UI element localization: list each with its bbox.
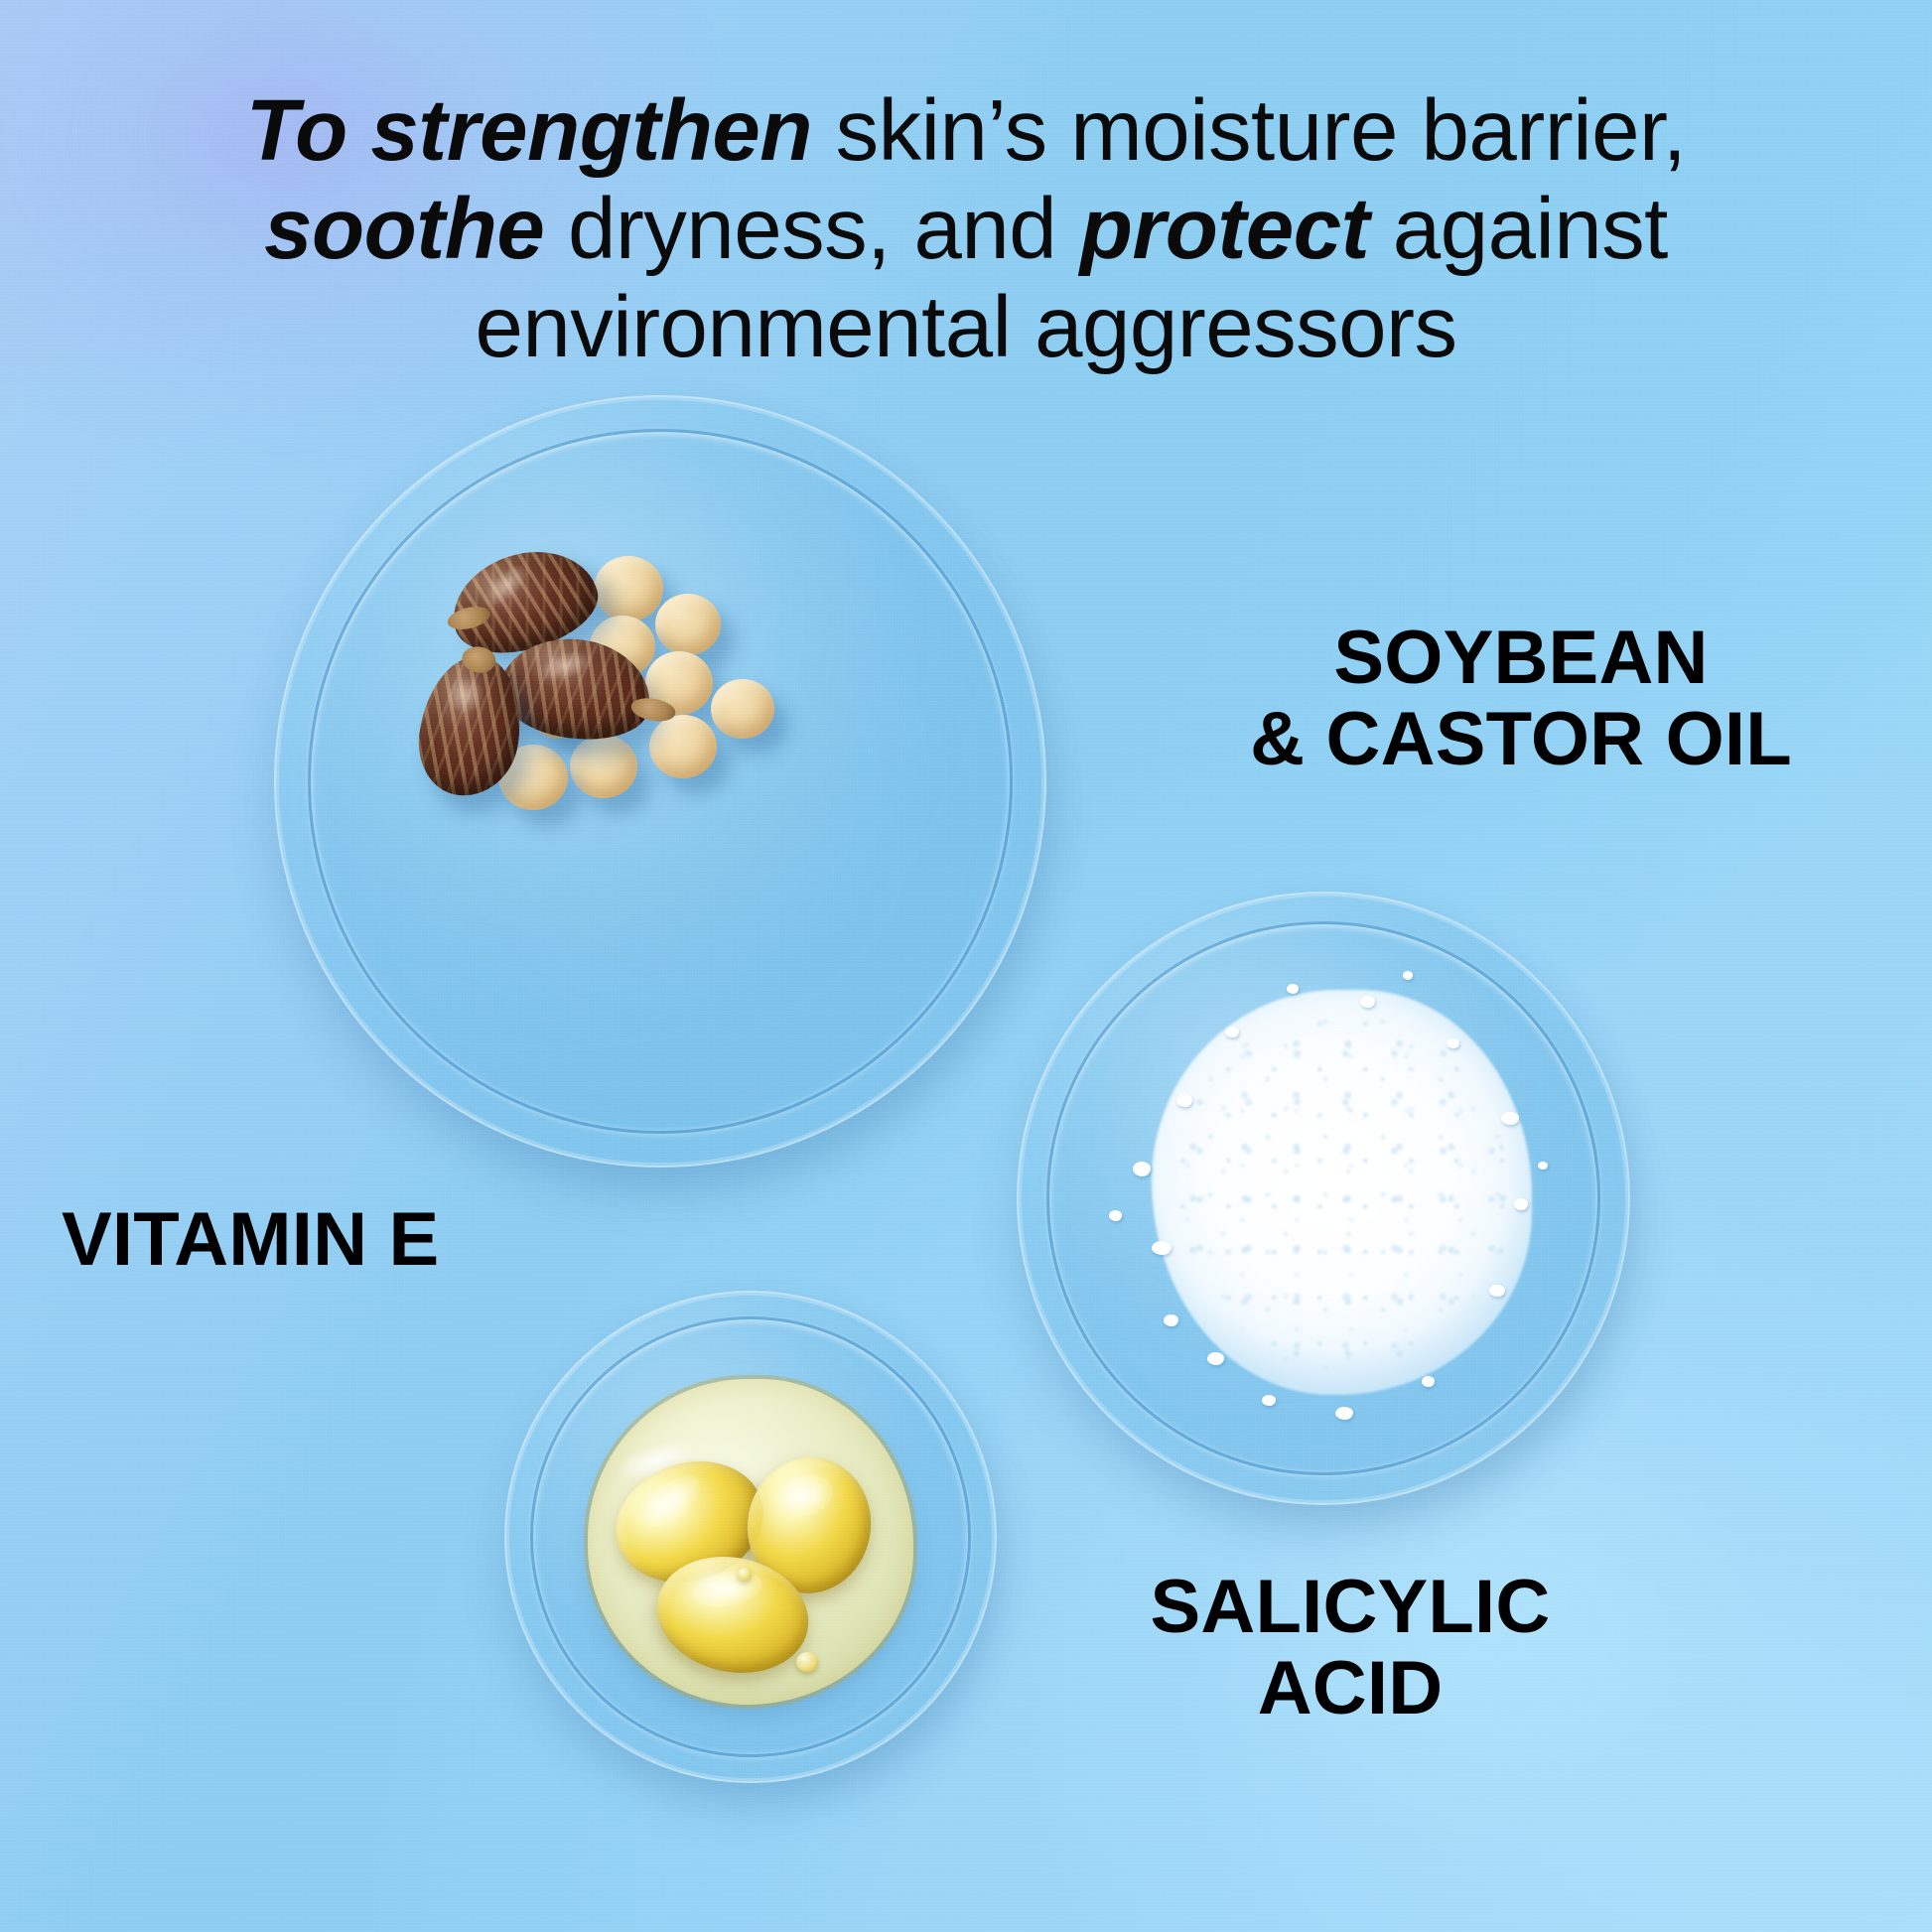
castor-bean-highlight xyxy=(442,671,489,719)
powder-speck xyxy=(1360,996,1375,1008)
label-salicylic-line-2: ACID xyxy=(1052,1648,1648,1729)
powder-speck xyxy=(1422,1376,1435,1387)
powder-speck xyxy=(1489,1285,1505,1297)
soybean-seed xyxy=(649,715,717,778)
powder-speck xyxy=(1207,1352,1224,1365)
castor-bean-highlight xyxy=(535,645,598,688)
powder-speck xyxy=(1109,1210,1122,1221)
powder-speck xyxy=(1225,1027,1239,1037)
seed-group xyxy=(274,395,1046,1168)
powder-speck xyxy=(1164,1314,1178,1326)
label-salicylic-acid: SALICYLIC ACID xyxy=(1052,1567,1648,1729)
headline-emphasis-protect: protect xyxy=(1080,181,1369,277)
petri-dish-soybean-castor xyxy=(274,395,1046,1168)
petri-dish-salicylic-acid xyxy=(1017,892,1630,1505)
capsule-highlight xyxy=(690,1567,765,1612)
powder-speck xyxy=(1403,971,1413,980)
petri-dish-vitamin-e xyxy=(504,1291,997,1783)
vitamin-e-oil-pool xyxy=(588,1379,912,1704)
castor-bean-caruncle xyxy=(446,603,493,633)
label-soybean-line-2: & CASTOR OIL xyxy=(1144,699,1898,780)
headline-line-2: soothe dryness, and protect against xyxy=(89,180,1843,278)
headline-emphasis-soothe: soothe xyxy=(264,181,544,277)
label-vitamin-e: VITAMIN E xyxy=(62,1199,618,1281)
headline-line-2-rest: against xyxy=(1369,181,1668,277)
ingredient-infographic: To strengthen skin’s moisture barrier, s… xyxy=(0,0,1932,1932)
castor-bean-highlight xyxy=(478,558,535,614)
label-soybean-line-1: SOYBEAN xyxy=(1144,618,1898,699)
capsule-highlight xyxy=(772,1469,837,1523)
headline-emphasis-strengthen: To strengthen xyxy=(246,82,812,179)
headline: To strengthen skin’s moisture barrier, s… xyxy=(0,81,1932,377)
powder-speck xyxy=(1176,1094,1192,1107)
powder-speck xyxy=(1514,1198,1528,1210)
soybean-seed xyxy=(594,556,663,621)
soybean-seed xyxy=(711,679,774,739)
headline-line-1: To strengthen skin’s moisture barrier, xyxy=(89,81,1843,180)
oil-droplet xyxy=(796,1652,818,1672)
oil-droplet xyxy=(738,1568,752,1581)
powder-speck xyxy=(1262,1395,1276,1406)
powder-speck xyxy=(1447,1038,1459,1048)
salicylic-acid-powder xyxy=(1017,892,1630,1505)
powder-speck xyxy=(1335,1407,1353,1420)
powder-speck xyxy=(1538,1162,1548,1170)
powder-speck xyxy=(1133,1162,1151,1176)
headline-line-1-rest: skin’s moisture barrier, xyxy=(812,82,1686,179)
soybean-seed xyxy=(570,735,637,798)
headline-line-2-mid: dryness, and xyxy=(544,181,1079,277)
headline-line-3: environmental aggressors xyxy=(89,278,1843,376)
label-soybean-castor-oil: SOYBEAN & CASTOR OIL xyxy=(1144,618,1898,780)
soybean-seed xyxy=(655,594,721,655)
label-vitamin-e-line-1: VITAMIN E xyxy=(62,1199,618,1281)
label-salicylic-line-1: SALICYLIC xyxy=(1052,1567,1648,1648)
powder-mound xyxy=(1152,990,1532,1395)
powder-speck xyxy=(1287,984,1299,994)
